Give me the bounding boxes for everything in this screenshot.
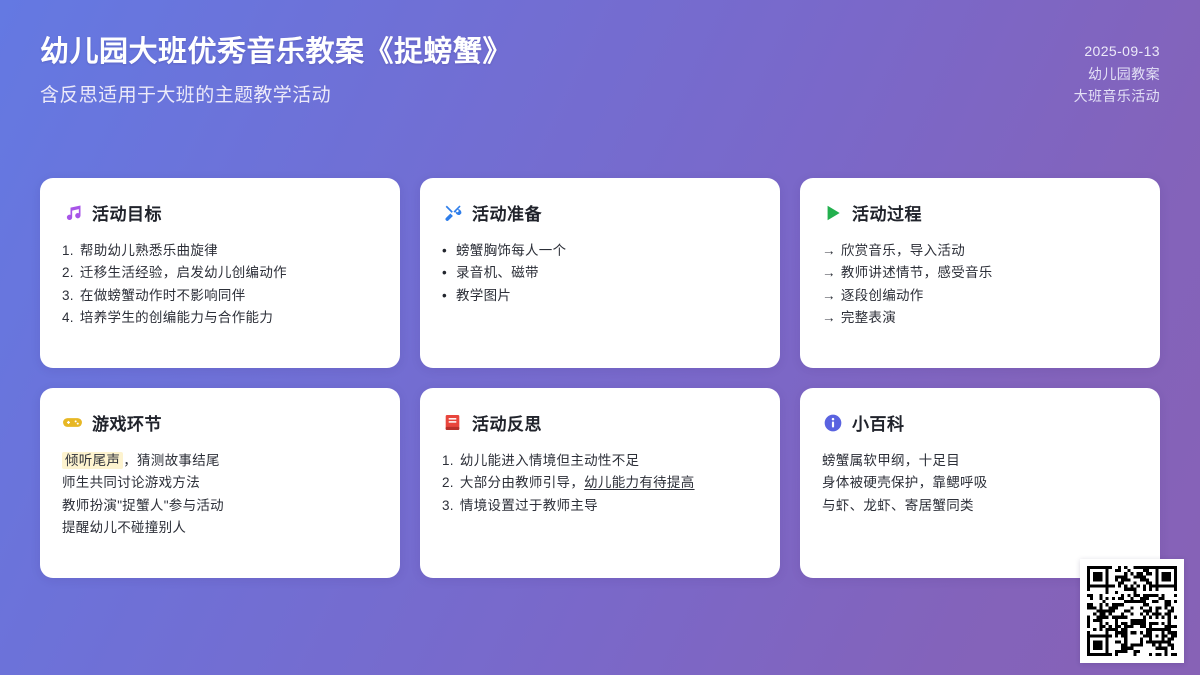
music-note-icon	[62, 202, 83, 223]
play-triangle-icon	[822, 202, 843, 223]
page-subtitle: 含反思适用于大班的主题教学活动	[40, 80, 512, 107]
list-item: 螃蟹属软甲纲，十足目	[822, 449, 1138, 472]
meta-category: 幼儿园教案	[1074, 63, 1160, 86]
info-circle-icon	[822, 412, 843, 433]
list-item: →完整表演	[822, 307, 1138, 330]
card-title: 活动反思	[472, 410, 542, 435]
card-title: 小百科	[852, 410, 905, 435]
card-title: 活动目标	[92, 200, 162, 225]
card-title: 游戏环节	[92, 410, 162, 435]
card-header: 小百科	[822, 410, 1138, 435]
list-marker: 3.	[442, 498, 458, 513]
card-header: 活动目标	[62, 200, 378, 225]
card-body: 1. 帮助幼儿熟悉乐曲旋律2. 迁移生活经验，启发幼儿创编动作3. 在做螃蟹动作…	[62, 239, 378, 329]
list-item-text: 大部分由教师引导，	[460, 475, 584, 490]
list-item-text: 螃蟹属软甲纲，十足目	[822, 453, 960, 468]
card-title: 活动过程	[852, 200, 922, 225]
list-item: 1. 幼儿能进入情境但主动性不足	[442, 449, 758, 472]
card-body: 螃蟹属软甲纲，十足目身体被硬壳保护，靠鳃呼吸与虾、龙虾、寄居蟹同类	[822, 449, 1138, 517]
list-item-text: 身体被硬壳保护，靠鳃呼吸	[822, 475, 988, 490]
list-item: •教学图片	[442, 284, 758, 307]
list-item: →欣赏音乐，导入活动	[822, 239, 1138, 262]
list-item: 2. 迁移生活经验，启发幼儿创编动作	[62, 262, 378, 285]
card-activity-goals: 活动目标1. 帮助幼儿熟悉乐曲旋律2. 迁移生活经验，启发幼儿创编动作3. 在做…	[40, 178, 400, 368]
card-activity-process: 活动过程→欣赏音乐，导入活动→教师讲述情节，感受音乐→逐段创编动作→完整表演	[800, 178, 1160, 368]
list-item: 教师扮演"捉蟹人"参与活动	[62, 494, 378, 517]
list-item-text: 完整表演	[841, 310, 896, 325]
list-marker: 2.	[62, 265, 78, 280]
list-item: 3. 在做螃蟹动作时不影响同伴	[62, 284, 378, 307]
tools-icon	[442, 202, 463, 223]
list-item-text: ，猜测故事结尾	[123, 453, 220, 468]
book-icon	[442, 412, 463, 433]
list-item-text: 欣赏音乐，导入活动	[841, 243, 965, 258]
underlined-text: 幼儿能力有待提高	[584, 475, 694, 490]
bullet-icon: •	[442, 244, 456, 258]
list-marker: 1.	[442, 453, 458, 468]
list-item: 与虾、龙虾、寄居蟹同类	[822, 494, 1138, 517]
card-activity-reflection: 活动反思1. 幼儿能进入情境但主动性不足2. 大部分由教师引导，幼儿能力有待提高…	[420, 388, 780, 578]
list-item: 4. 培养学生的创编能力与合作能力	[62, 307, 378, 330]
list-item-text: 逐段创编动作	[841, 288, 924, 303]
highlighted-text: 倾听尾声	[62, 452, 123, 469]
list-item-text: 教师扮演"捉蟹人"参与活动	[62, 498, 224, 513]
meta-date: 2025-09-13	[1074, 40, 1160, 63]
list-item: 倾听尾声，猜测故事结尾	[62, 449, 378, 472]
gamepad-icon	[62, 412, 83, 433]
arrow-icon: →	[822, 288, 836, 303]
arrow-icon: →	[822, 243, 836, 258]
list-item-text: 幼儿能进入情境但主动性不足	[460, 453, 639, 468]
list-item-text: 教师讲述情节，感受音乐	[841, 265, 993, 280]
list-item-text: 提醒幼儿不碰撞别人	[62, 520, 186, 535]
card-body: •螃蟹胸饰每人一个•录音机、磁带•教学图片	[442, 239, 758, 307]
list-item: 2. 大部分由教师引导，幼儿能力有待提高	[442, 472, 758, 495]
list-item: →逐段创编动作	[822, 284, 1138, 307]
card-header: 活动反思	[442, 410, 758, 435]
card-header: 活动准备	[442, 200, 758, 225]
list-item-text: 录音机、磁带	[456, 265, 539, 280]
list-item: →教师讲述情节，感受音乐	[822, 262, 1138, 285]
list-item: 1. 帮助幼儿熟悉乐曲旋律	[62, 239, 378, 262]
card-activity-preparation: 活动准备•螃蟹胸饰每人一个•录音机、磁带•教学图片	[420, 178, 780, 368]
list-item-text: 在做螃蟹动作时不影响同伴	[80, 288, 246, 303]
list-item-text: 螃蟹胸饰每人一个	[456, 243, 566, 258]
list-item: 师生共同讨论游戏方法	[62, 472, 378, 495]
list-item-text: 与虾、龙虾、寄居蟹同类	[822, 498, 974, 513]
card-body: 倾听尾声，猜测故事结尾师生共同讨论游戏方法教师扮演"捉蟹人"参与活动提醒幼儿不碰…	[62, 449, 378, 539]
list-item: •录音机、磁带	[442, 262, 758, 285]
list-item-text: 迁移生活经验，启发幼儿创编动作	[80, 265, 287, 280]
list-marker: 4.	[62, 310, 78, 325]
qr-code[interactable]	[1080, 559, 1184, 663]
page-title: 幼儿园大班优秀音乐教案《捉螃蟹》	[40, 34, 512, 72]
list-item-text: 情境设置过于教师主导	[460, 498, 598, 513]
bullet-icon: •	[442, 289, 456, 303]
meta-subject: 大班音乐活动	[1074, 85, 1160, 108]
arrow-icon: →	[822, 310, 836, 325]
list-item-text: 培养学生的创编能力与合作能力	[80, 310, 273, 325]
bullet-icon: •	[442, 266, 456, 280]
list-marker: 2.	[442, 475, 458, 490]
list-item: •螃蟹胸饰每人一个	[442, 239, 758, 262]
card-header: 游戏环节	[62, 410, 378, 435]
header-title-group: 幼儿园大班优秀音乐教案《捉螃蟹》 含反思适用于大班的主题教学活动	[40, 34, 512, 107]
card-grid: 活动目标1. 帮助幼儿熟悉乐曲旋律2. 迁移生活经验，启发幼儿创编动作3. 在做…	[40, 178, 1160, 578]
list-item: 身体被硬壳保护，靠鳃呼吸	[822, 472, 1138, 495]
card-encyclopedia: 小百科螃蟹属软甲纲，十足目身体被硬壳保护，靠鳃呼吸与虾、龙虾、寄居蟹同类	[800, 388, 1160, 578]
list-marker: 3.	[62, 288, 78, 303]
header-meta: 2025-09-13 幼儿园教案 大班音乐活动	[1074, 40, 1160, 108]
list-item-text: 帮助幼儿熟悉乐曲旋律	[80, 243, 218, 258]
card-body: →欣赏音乐，导入活动→教师讲述情节，感受音乐→逐段创编动作→完整表演	[822, 239, 1138, 329]
card-title: 活动准备	[472, 200, 542, 225]
list-item: 3. 情境设置过于教师主导	[442, 494, 758, 517]
card-game-section: 游戏环节倾听尾声，猜测故事结尾师生共同讨论游戏方法教师扮演"捉蟹人"参与活动提醒…	[40, 388, 400, 578]
list-item: 提醒幼儿不碰撞别人	[62, 517, 378, 540]
card-header: 活动过程	[822, 200, 1138, 225]
page-header: 幼儿园大班优秀音乐教案《捉螃蟹》 含反思适用于大班的主题教学活动 2025-09…	[0, 0, 1200, 150]
list-item-text: 师生共同讨论游戏方法	[62, 475, 200, 490]
list-marker: 1.	[62, 243, 78, 258]
list-item-text: 教学图片	[456, 288, 511, 303]
arrow-icon: →	[822, 265, 836, 280]
card-body: 1. 幼儿能进入情境但主动性不足2. 大部分由教师引导，幼儿能力有待提高3. 情…	[442, 449, 758, 517]
